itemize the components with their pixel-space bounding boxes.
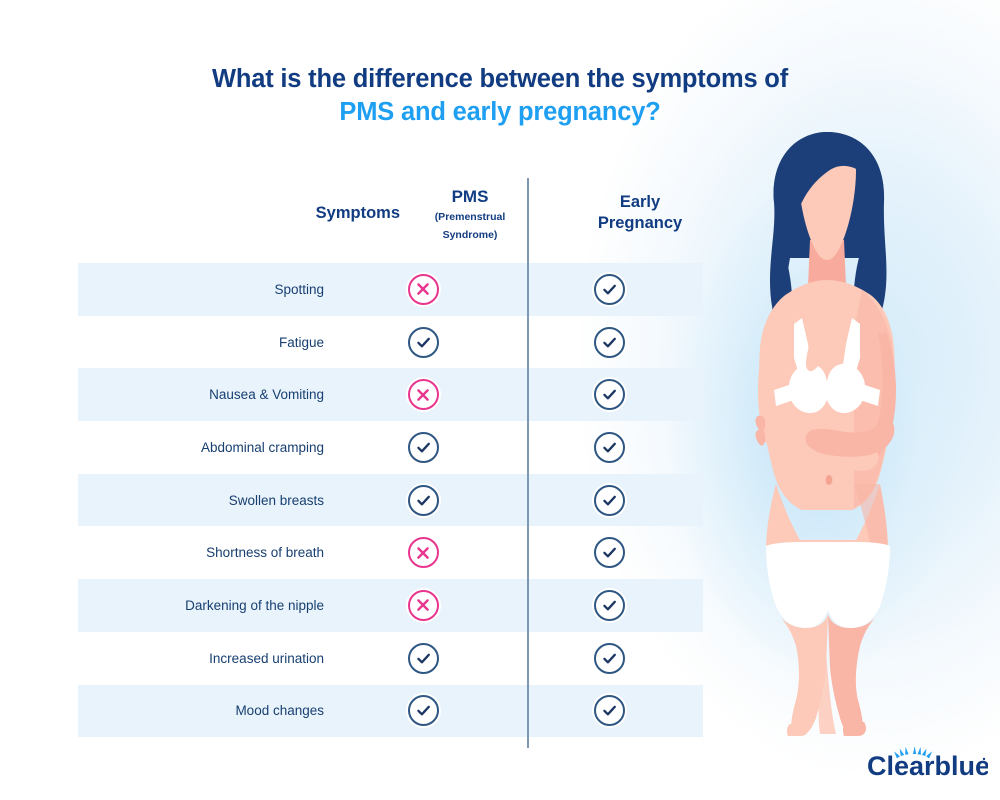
cell-pms (330, 379, 516, 410)
leg-right (828, 614, 876, 734)
table-row: Darkening of the nipple (78, 579, 703, 632)
foot-left (787, 724, 809, 736)
column-header-pms: PMS (Premenstrual Syndrome) (380, 186, 560, 244)
symptom-label: Nausea & Vomiting (78, 387, 330, 402)
cell-early-pregnancy (516, 537, 703, 568)
column-header-pms-sub-1: (Premenstrual (380, 210, 560, 225)
check-icon (408, 485, 439, 516)
cell-early-pregnancy (516, 485, 703, 516)
underwear (766, 542, 890, 628)
cell-pms (330, 485, 516, 516)
title-line-2: PMS and early pregnancy? (0, 96, 1000, 129)
symptom-label: Fatigue (78, 335, 330, 350)
check-icon (594, 485, 625, 516)
column-header-ep-line-1: Early (550, 192, 730, 213)
symptom-label: Shortness of breath (78, 545, 330, 560)
cell-early-pregnancy (516, 695, 703, 726)
table-row: Spotting (78, 263, 703, 316)
table-row: Swollen breasts (78, 474, 703, 527)
check-icon (408, 432, 439, 463)
cross-icon (408, 274, 439, 305)
table-body: SpottingFatigueNausea & VomitingAbdomina… (78, 263, 703, 737)
table-row: Nausea & Vomiting (78, 368, 703, 421)
check-icon (594, 432, 625, 463)
check-icon (408, 643, 439, 674)
title-line-1: What is the difference between the sympt… (0, 63, 1000, 96)
cell-early-pregnancy (516, 643, 703, 674)
check-icon (594, 537, 625, 568)
check-icon (594, 379, 625, 410)
cell-early-pregnancy (516, 590, 703, 621)
check-icon (594, 695, 625, 726)
column-header-pms-sub-2: Syndrome) (380, 228, 560, 243)
cell-early-pregnancy (516, 379, 703, 410)
cell-pms (330, 327, 516, 358)
table-row: Shortness of breath (78, 526, 703, 579)
navel (826, 475, 833, 485)
column-header-ep-line-2: Pregnancy (550, 213, 730, 234)
column-header-symptoms: Symptoms (230, 204, 400, 223)
symptom-label: Abdominal cramping (78, 440, 330, 455)
check-icon (594, 327, 625, 358)
cross-icon (408, 379, 439, 410)
cell-early-pregnancy (516, 274, 703, 305)
page-title: What is the difference between the sympt… (0, 63, 1000, 128)
check-icon (408, 695, 439, 726)
cell-pms (330, 695, 516, 726)
column-divider (527, 178, 529, 748)
cell-pms (330, 643, 516, 674)
symptom-label: Increased urination (78, 651, 330, 666)
clearblue-logo[interactable]: Clearblue (866, 742, 988, 782)
cell-pms (330, 274, 516, 305)
woman-illustration (712, 128, 942, 738)
cell-early-pregnancy (516, 432, 703, 463)
symptom-label: Mood changes (78, 703, 330, 718)
cross-icon (408, 537, 439, 568)
cell-pms (330, 590, 516, 621)
table-header-row: Symptoms PMS (Premenstrual Syndrome) Ear… (78, 178, 703, 260)
symptom-label: Darkening of the nipple (78, 598, 330, 613)
check-icon (594, 643, 625, 674)
cell-pms (330, 432, 516, 463)
cross-icon (408, 590, 439, 621)
cell-early-pregnancy (516, 327, 703, 358)
cell-pms (330, 537, 516, 568)
column-header-pms-title: PMS (380, 186, 560, 207)
clearblue-wordmark: Clearblue (867, 751, 988, 781)
foot-right (843, 722, 866, 736)
table-row: Increased urination (78, 632, 703, 685)
table-row: Mood changes (78, 685, 703, 738)
table-row: Abdominal cramping (78, 421, 703, 474)
symptom-label: Spotting (78, 282, 330, 297)
symptom-label: Swollen breasts (78, 493, 330, 508)
check-icon (408, 327, 439, 358)
check-icon (594, 590, 625, 621)
check-icon (594, 274, 625, 305)
column-header-early-pregnancy: Early Pregnancy (550, 192, 730, 235)
table-row: Fatigue (78, 316, 703, 369)
